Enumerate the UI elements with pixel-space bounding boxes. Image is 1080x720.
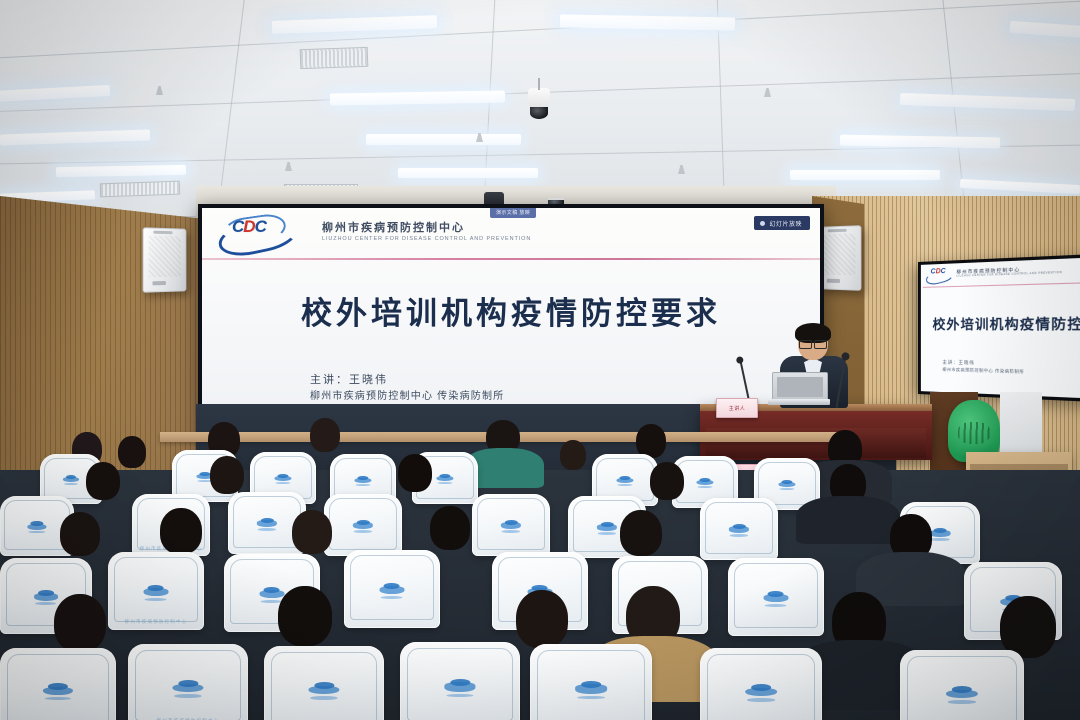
chair-emblem-icon [597,522,617,533]
side-monitor-slide: CDC 柳州市疾病预防控制中心 LIUZHOU CENTER FOR DISEA… [921,257,1080,399]
slide-subtitle-block: 主讲：王晓伟 柳州市疾病预防控制中心 传染病防制所 [310,372,504,405]
attendee-head [310,418,340,452]
chair-emblem-icon [745,684,777,699]
auditorium-chair[interactable] [400,642,520,720]
attendee-head [650,462,684,500]
slide-presenter-line: 主讲：王晓伟 [310,372,504,389]
laptop-keyboard-base [768,399,830,405]
auditorium-chair[interactable] [700,648,822,720]
side-monitor-subtitle-block: 主讲：王晓伟 柳州市疾病预防控制中心 传染病防制所 [942,360,1080,378]
attendee-shoulders [796,496,900,544]
chair-emblem-icon [764,591,789,605]
slide-header: CDC 柳州市疾病预防控制中心 LIUZHOU CENTER FOR DISEA… [202,208,820,256]
auditorium-chair[interactable] [0,648,116,720]
slide-org-name-cn: 柳州市疾病预防控制中心 [322,222,531,235]
presenter-laptop[interactable] [768,372,830,406]
chair-emblem-icon [308,682,339,697]
side-display-monitor[interactable]: CDC 柳州市疾病预防控制中心 LIUZHOU CENTER FOR DISEA… [918,254,1080,403]
wall-speaker-right [818,225,862,291]
presenter-glasses-icon [799,340,827,347]
slideshow-badge-label: 幻灯片放映 [769,219,802,228]
photo-scene: 演示文稿 放映 CDC 柳州市疾病预防控制中心 LIUZHOU CENTER F… [0,0,1080,720]
ceiling-light-panel [398,168,538,178]
auditorium-chair[interactable] [472,494,550,556]
ceiling-light-panel [790,170,940,180]
attendee-head [620,510,662,556]
speaker-top-bracket [153,231,172,235]
chair-emblem-icon [274,474,291,483]
slideshow-badge[interactable]: 幻灯片放映 [754,216,810,230]
auditorium-chair[interactable] [728,558,824,636]
auditorium-chair[interactable] [530,644,652,720]
slide-header-rule [202,258,820,260]
auditorium-chair[interactable]: 柳州市疾病预防控制中心 [128,644,248,720]
chair-emblem-icon [63,475,79,484]
chair-emblem-icon [946,686,978,701]
slide-org-name-en: LIUZHOU CENTER FOR DISEASE CONTROL AND P… [322,236,531,242]
chair-emblem-icon [575,681,607,697]
attendee-head [86,462,120,500]
speaker-top-bracket [828,229,847,233]
laptop-screen [772,372,828,402]
attendee-head [1000,596,1056,658]
auditorium-chair[interactable] [900,650,1024,720]
chair-emblem-icon [696,478,713,487]
cdc-logo-letters: CDC [931,268,946,276]
attendee-head [160,508,202,554]
slide-org-block: 柳州市疾病预防控制中心 LIUZHOU CENTER FOR DISEASE C… [322,222,531,243]
slide-affiliation-line: 柳州市疾病预防控制中心 传染病防制所 [310,389,504,405]
wall-speaker-left [143,227,187,293]
auditorium-chair[interactable] [324,494,402,556]
chair-emblem-icon [34,590,58,604]
chair-emblem-icon [260,587,285,601]
attendee-head [560,440,586,470]
attendee-head [118,436,146,468]
badge-dot-icon [760,221,765,226]
chair-emblem-icon [353,520,373,531]
attendee-head [430,506,470,550]
auditorium-chair[interactable]: 柳州市疾病预防控制中心 [108,552,204,630]
cdc-logo-icon: CDC [926,268,952,283]
chair-emblem-icon [354,476,371,485]
attendee-head [398,454,432,492]
attendee-head [60,512,100,556]
chair-emblem-icon [43,683,73,698]
attendee-head [636,424,666,458]
chair-seat-text: 柳州市疾病预防控制中心 [125,619,188,625]
chair-emblem-icon [380,583,405,597]
chair-emblem-icon [436,474,453,483]
camera-mount-rod [538,78,540,90]
ceiling-dome-camera [528,88,550,110]
attendee-head [210,456,244,494]
attendee-head [292,510,332,554]
chair-emblem-icon [172,680,203,695]
auditorium-chair[interactable] [700,498,778,560]
cdc-logo-letters: CDC [232,217,266,237]
side-monitor-org-block: 柳州市疾病预防控制中心 LIUZHOU CENTER FOR DISEASE C… [956,267,1062,279]
attendee-head [278,586,332,646]
auditorium-chair[interactable] [264,646,384,720]
side-monitor-title: 校外培训机构疫情防控 [921,312,1080,333]
attendee-head [54,594,106,652]
chair-emblem-icon [778,480,795,489]
attendee-head [516,590,568,648]
chair-emblem-icon [257,518,277,529]
chair-emblem-icon [27,521,46,532]
hvac-vent [100,181,180,198]
chair-emblem-icon [729,524,749,535]
auditorium-chair[interactable] [344,550,440,628]
audience-seating: 柳州市疾病预防控制中心 柳州市疾 [0,410,1080,720]
chair-emblem-icon [501,520,521,531]
chair-emblem-icon [144,585,169,599]
chair-emblem-icon [616,476,633,485]
hvac-vent [300,47,369,69]
slide-title: 校外培训机构疫情防控要求 [202,288,820,333]
ceiling-light-panel [366,134,521,145]
chair-emblem-icon [444,679,475,695]
cdc-logo-icon: CDC [218,213,292,251]
chair-emblem-icon [930,528,951,539]
